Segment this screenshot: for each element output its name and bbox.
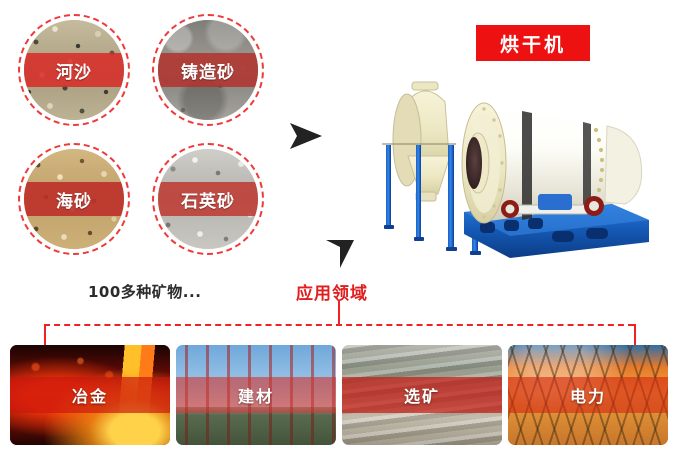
application-label-band: 电力 — [508, 377, 668, 413]
triangle-right-icon — [288, 121, 324, 151]
connector-rail — [44, 324, 634, 326]
application-label-band: 建材 — [176, 377, 336, 413]
application-label-band: 选矿 — [342, 377, 502, 413]
material-label-band: 海砂 — [24, 182, 124, 216]
material-circle-foundry-sand[interactable]: 铸造砂 — [152, 14, 264, 126]
applications-section-title: 应用领域 — [296, 279, 368, 304]
application-card-building-material[interactable]: 建材 — [176, 345, 336, 445]
material-circle-sea-sand[interactable]: 海砂 — [18, 143, 130, 255]
material-label: 河沙 — [56, 58, 92, 83]
application-card-electric-power[interactable]: 电力 — [508, 345, 668, 445]
product-badge-label: 烘干机 — [500, 30, 566, 57]
application-card-ore-dressing[interactable]: 选矿 — [342, 345, 502, 445]
minerals-note: 100多种矿物... — [88, 281, 201, 302]
material-label: 海砂 — [56, 187, 92, 212]
material-circle-quartz-sand[interactable]: 石英砂 — [152, 143, 264, 255]
material-circle-inner: 海砂 — [24, 149, 124, 249]
application-label: 选矿 — [404, 383, 440, 407]
application-label-band: 冶金 — [10, 377, 170, 413]
application-label: 电力 — [570, 383, 606, 407]
connector-drop-left — [44, 324, 46, 346]
material-label: 石英砂 — [181, 187, 235, 212]
material-label-band: 石英砂 — [158, 182, 258, 216]
material-label: 铸造砂 — [181, 58, 235, 83]
application-card-metallurgy[interactable]: 冶金 — [10, 345, 170, 445]
material-circle-inner: 石英砂 — [158, 149, 258, 249]
material-label-band: 河沙 — [24, 53, 124, 87]
material-circle-inner: 河沙 — [24, 20, 124, 120]
application-label: 建材 — [238, 383, 274, 407]
application-label: 冶金 — [72, 383, 108, 407]
material-circle-inner: 铸造砂 — [158, 20, 258, 120]
material-circle-river-sand[interactable]: 河沙 — [18, 14, 130, 126]
material-label-band: 铸造砂 — [158, 53, 258, 87]
product-badge: 烘干机 — [476, 25, 590, 61]
connector-drop-right — [634, 324, 636, 346]
rotary-dryer-illustration — [360, 62, 665, 262]
triangle-down-icon — [325, 238, 355, 270]
infographic-canvas: 河沙 铸造砂 海砂 石英砂 — [0, 0, 680, 450]
connector-stem — [338, 300, 340, 325]
